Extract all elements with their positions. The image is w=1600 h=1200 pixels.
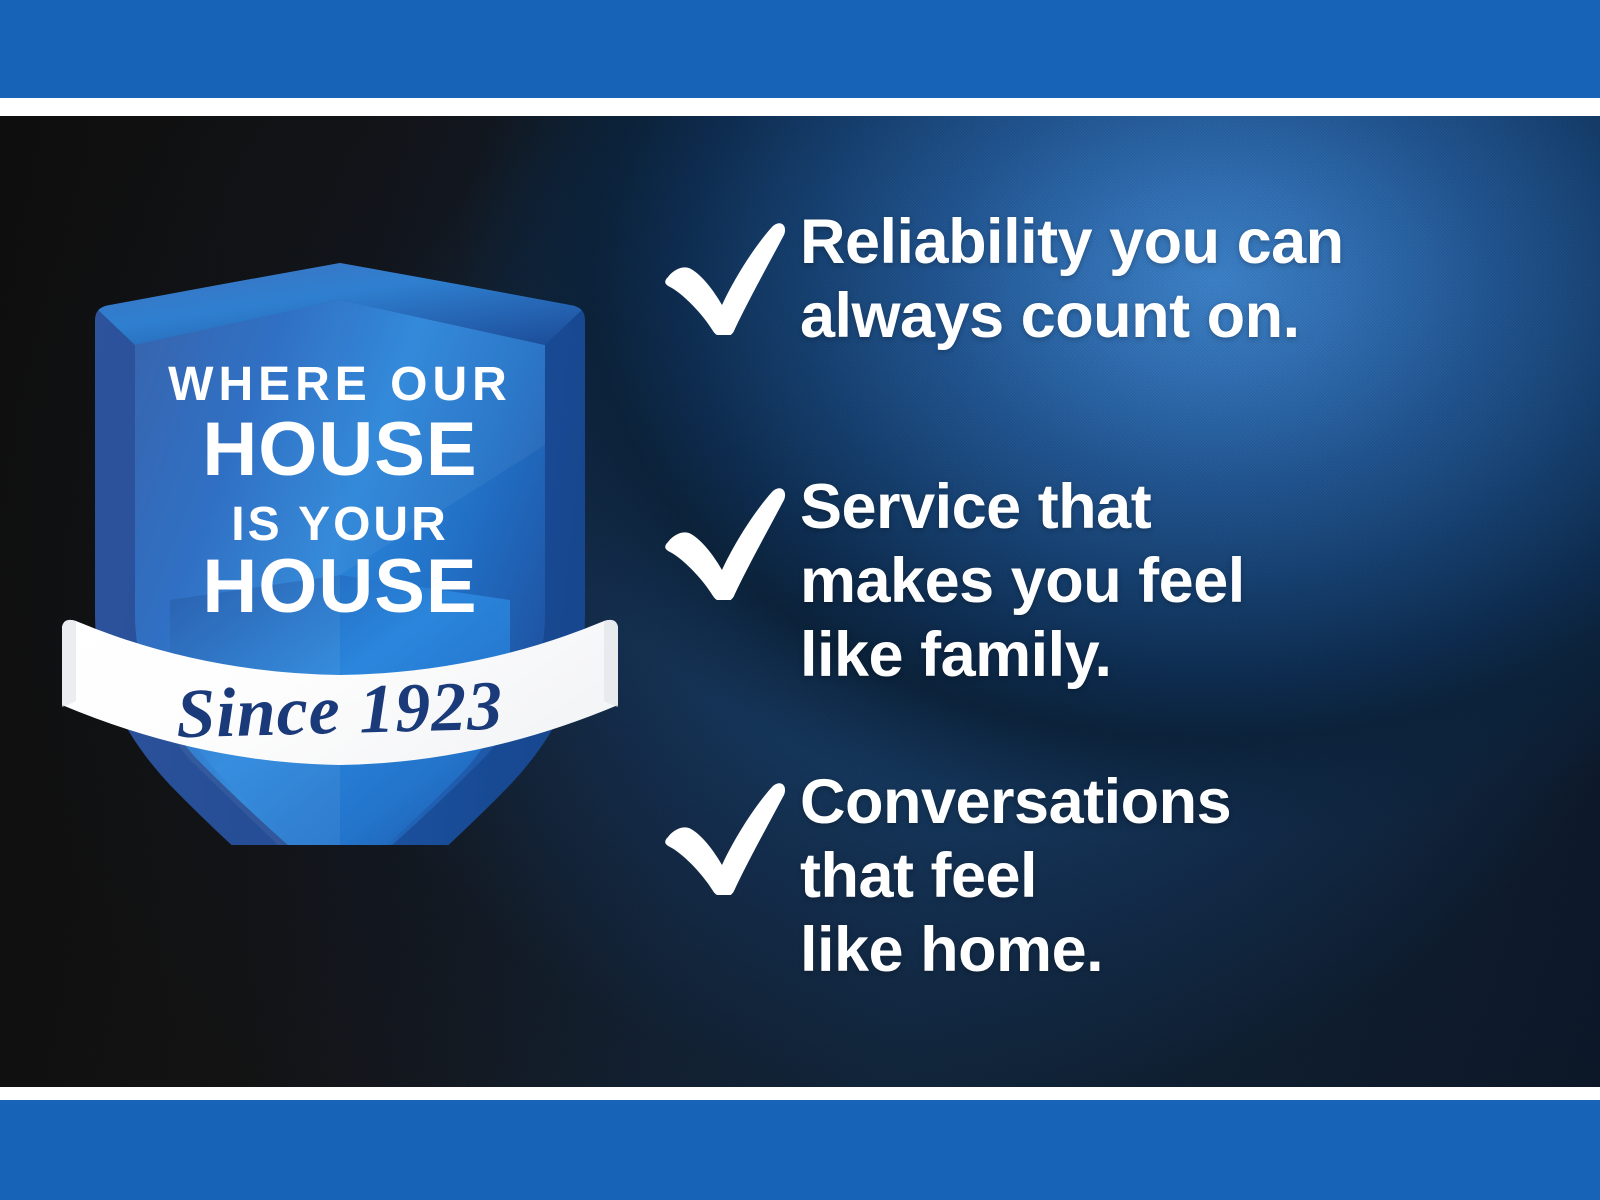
check-icon xyxy=(660,765,800,895)
benefit-text-2: Service that makes you feel like family. xyxy=(800,470,1245,692)
ribbon-fold-right xyxy=(604,620,618,707)
logo-line-1: WHERE OUR xyxy=(168,358,512,411)
promo-poster: WHERE OUR HOUSE IS YOUR HOUSE Since 1923… xyxy=(0,0,1600,1200)
top-white-rule xyxy=(0,98,1600,116)
benefit-item-3: Conversations that feel like home. xyxy=(660,765,1231,987)
top-brand-bar xyxy=(0,0,1600,98)
bottom-white-rule xyxy=(0,1087,1600,1100)
check-icon xyxy=(660,205,800,335)
check-icon xyxy=(660,470,800,600)
benefit-item-2: Service that makes you feel like family. xyxy=(660,470,1245,692)
bottom-brand-bar xyxy=(0,1100,1600,1200)
logo: WHERE OUR HOUSE IS YOUR HOUSE Since 1923 xyxy=(40,145,640,845)
benefit-text-1: Reliability you can always count on. xyxy=(800,205,1344,353)
logo-line-2: HOUSE xyxy=(202,407,477,492)
logo-line-4: HOUSE xyxy=(202,544,477,629)
ribbon-label: Since 1923 xyxy=(175,668,504,754)
ribbon-fold-left xyxy=(62,620,76,707)
benefit-item-1: Reliability you can always count on. xyxy=(660,205,1344,353)
benefit-text-3: Conversations that feel like home. xyxy=(800,765,1231,987)
